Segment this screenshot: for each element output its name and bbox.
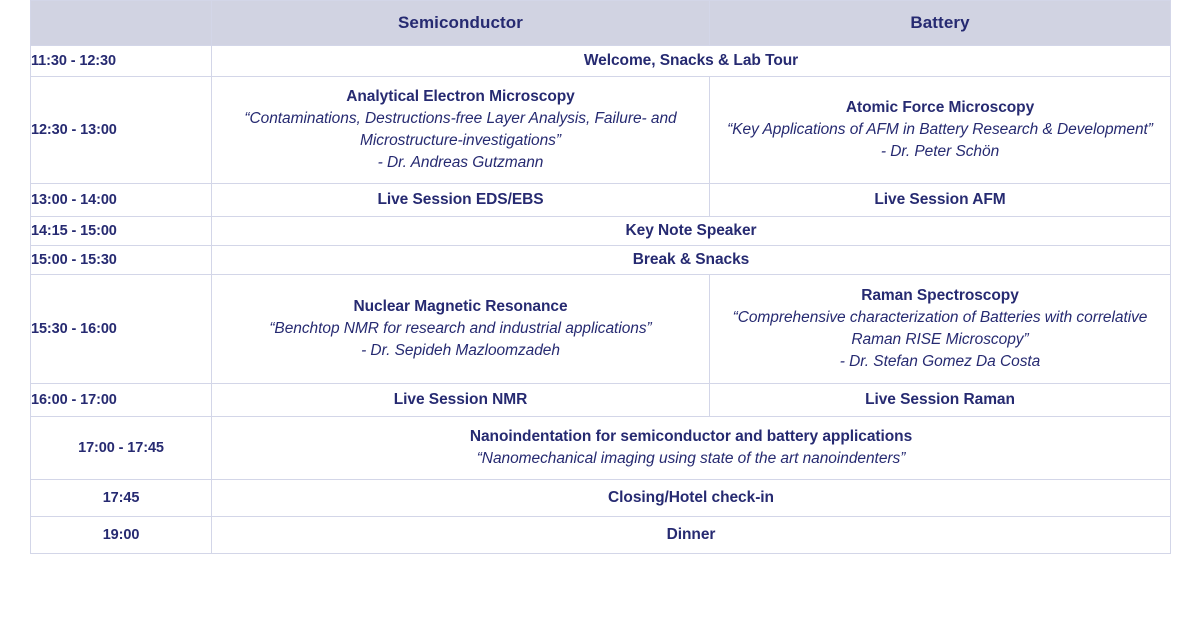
row-session-full: Key Note Speaker	[212, 217, 1171, 246]
table-row: 11:30 - 12:30 Welcome, Snacks & Lab Tour	[31, 46, 1171, 77]
session-speaker: - Dr. Sepideh Mazloomzadeh	[212, 340, 709, 362]
session-subtitle: “Benchtop NMR for research and industria…	[212, 318, 709, 340]
session-title: Raman Spectroscopy	[710, 285, 1170, 307]
row-time: 14:15 - 15:00	[31, 217, 212, 246]
row-time: 19:00	[31, 517, 212, 554]
session-title: Dinner	[212, 524, 1170, 546]
header-row: Semiconductor Battery	[31, 1, 1171, 46]
session-speaker: - Dr. Stefan Gomez Da Costa	[710, 351, 1170, 373]
session-title: Analytical Electron Microscopy	[212, 86, 709, 108]
row-session-full: Welcome, Snacks & Lab Tour	[212, 46, 1171, 77]
table-row: 12:30 - 13:00 Analytical Electron Micros…	[31, 77, 1171, 184]
table-body: 11:30 - 12:30 Welcome, Snacks & Lab Tour…	[31, 46, 1171, 554]
session-subtitle: “Nanomechanical imaging using state of t…	[212, 448, 1170, 470]
schedule-page: Semiconductor Battery 11:30 - 12:30 Welc…	[0, 0, 1200, 627]
row-session-full: Dinner	[212, 517, 1171, 554]
session-battery: Raman Spectroscopy “Comprehensive charac…	[710, 275, 1171, 384]
table-row: 19:00 Dinner	[31, 517, 1171, 554]
session-title: Atomic Force Microscopy	[710, 97, 1170, 119]
row-time: 17:00 - 17:45	[31, 417, 212, 480]
row-session-full: Nanoindentation for semiconductor and ba…	[212, 417, 1171, 480]
session-battery: Atomic Force Microscopy “Key Application…	[710, 77, 1171, 184]
session-semiconductor: Analytical Electron Microscopy “Contamin…	[212, 77, 710, 184]
session-title: Live Session EDS/EBS	[212, 189, 709, 211]
table-row: 15:00 - 15:30 Break & Snacks	[31, 246, 1171, 275]
event-schedule-table: Semiconductor Battery 11:30 - 12:30 Welc…	[30, 0, 1171, 554]
row-time: 15:30 - 16:00	[31, 275, 212, 384]
session-battery: Live Session Raman	[710, 384, 1171, 417]
schedule-table-wrapper: Semiconductor Battery 11:30 - 12:30 Welc…	[30, 0, 1170, 554]
session-title: Closing/Hotel check-in	[212, 487, 1170, 509]
row-time: 17:45	[31, 480, 212, 517]
column-header-time	[31, 1, 212, 46]
row-time: 13:00 - 14:00	[31, 184, 212, 217]
row-session-full: Break & Snacks	[212, 246, 1171, 275]
table-row: 17:00 - 17:45 Nanoindentation for semico…	[31, 417, 1171, 480]
session-title: Break & Snacks	[212, 249, 1170, 271]
session-subtitle: “Key Applications of AFM in Battery Rese…	[710, 119, 1170, 141]
session-semiconductor: Nuclear Magnetic Resonance “Benchtop NMR…	[212, 275, 710, 384]
session-semiconductor: Live Session EDS/EBS	[212, 184, 710, 217]
session-title: Nuclear Magnetic Resonance	[212, 296, 709, 318]
table-row: 16:00 - 17:00 Live Session NMR Live Sess…	[31, 384, 1171, 417]
table-row: 13:00 - 14:00 Live Session EDS/EBS Live …	[31, 184, 1171, 217]
session-subtitle: “Comprehensive characterization of Batte…	[710, 307, 1170, 351]
session-subtitle: “Contaminations, Destructions-free Layer…	[212, 108, 709, 152]
row-time: 15:00 - 15:30	[31, 246, 212, 275]
session-speaker: - Dr. Andreas Gutzmann	[212, 152, 709, 174]
session-speaker: - Dr. Peter Schön	[710, 141, 1170, 163]
table-header: Semiconductor Battery	[31, 1, 1171, 46]
row-time: 12:30 - 13:00	[31, 77, 212, 184]
session-title: Live Session Raman	[710, 389, 1170, 411]
column-header-battery: Battery	[710, 1, 1171, 46]
table-row: 15:30 - 16:00 Nuclear Magnetic Resonance…	[31, 275, 1171, 384]
session-semiconductor: Live Session NMR	[212, 384, 710, 417]
session-battery: Live Session AFM	[710, 184, 1171, 217]
session-title: Live Session NMR	[212, 389, 709, 411]
table-row: 14:15 - 15:00 Key Note Speaker	[31, 217, 1171, 246]
table-row: 17:45 Closing/Hotel check-in	[31, 480, 1171, 517]
column-header-semiconductor: Semiconductor	[212, 1, 710, 46]
session-title: Welcome, Snacks & Lab Tour	[212, 50, 1170, 72]
row-time: 11:30 - 12:30	[31, 46, 212, 77]
session-title: Key Note Speaker	[212, 220, 1170, 242]
session-title: Nanoindentation for semiconductor and ba…	[212, 426, 1170, 448]
session-title: Live Session AFM	[710, 189, 1170, 211]
row-session-full: Closing/Hotel check-in	[212, 480, 1171, 517]
row-time: 16:00 - 17:00	[31, 384, 212, 417]
